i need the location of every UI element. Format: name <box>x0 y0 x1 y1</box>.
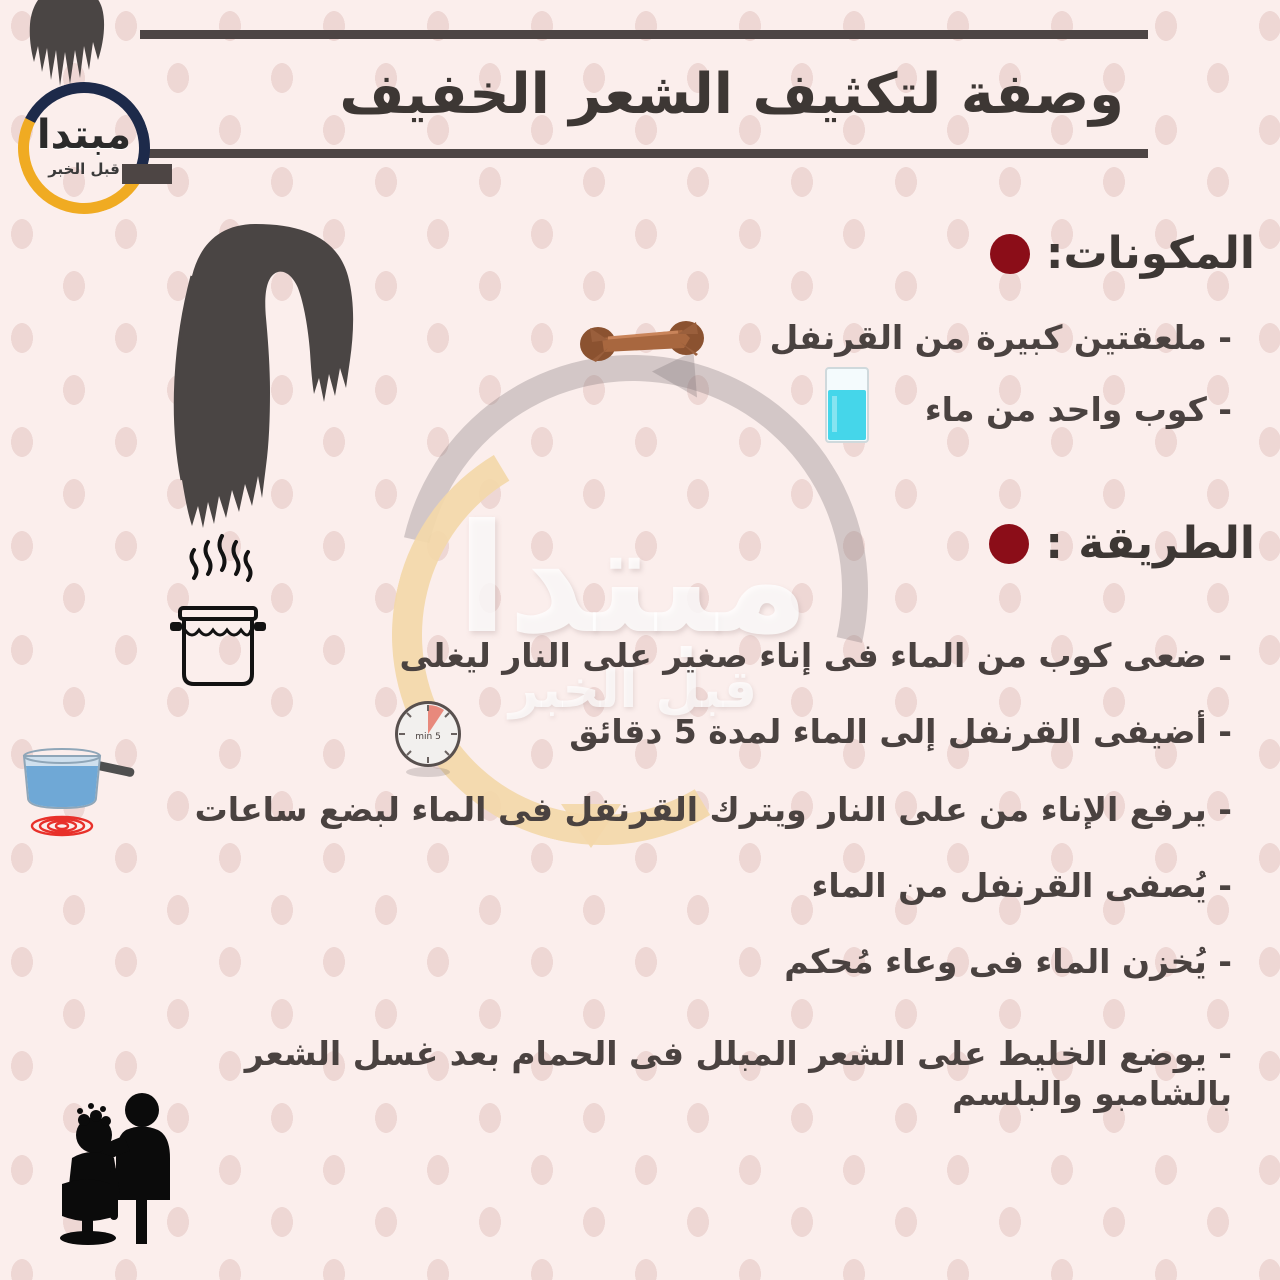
logo-wordmark: مبتدا <box>18 112 150 158</box>
long-hair-silhouette-icon <box>148 218 373 533</box>
method-step: - ضعى كوب من الماء فى إناء صغير على النا… <box>399 636 1232 676</box>
method-step: - أضيفى القرنفل إلى الماء لمدة 5 دقائق <box>569 712 1232 752</box>
method-step: - يرفع الإناء من على النار ويترك القرنفل… <box>195 790 1232 830</box>
infographic-page: وصفة لتكثيف الشعر الخفيف مبتدا قبل الخبر… <box>0 0 1280 1280</box>
ingredient-item: - كوب واحد من ماء <box>925 390 1232 430</box>
water-glass-icon <box>820 366 874 444</box>
ingredients-heading-label: المكونات: <box>1046 228 1255 279</box>
saucepan-on-burner-icon <box>6 742 136 842</box>
section-heading-method: الطريقة : <box>989 518 1255 569</box>
logo-tab-bar <box>122 164 172 184</box>
title-row: وصفة لتكثيف الشعر الخفيف <box>140 39 1148 149</box>
page-title: وصفة لتكثيف الشعر الخفيف <box>140 62 1132 127</box>
boiling-pot-icon <box>168 568 268 688</box>
hair-salon-washing-icon <box>58 1088 188 1248</box>
method-step: - يوضع الخليط على الشعر المبلل فى الحمام… <box>122 1034 1232 1115</box>
timer-label: 5 min <box>415 732 441 742</box>
clove-spice-icon <box>578 308 706 370</box>
header-top-rule <box>140 30 1148 39</box>
method-step: - يُخزن الماء فى وعاء مُحكم <box>784 942 1232 982</box>
bullet-dot-icon <box>989 524 1029 564</box>
ingredient-item: - ملعقتين كبيرة من القرنفل <box>770 318 1232 358</box>
brand-logo[interactable]: مبتدا قبل الخبر <box>18 82 150 214</box>
method-heading-label: الطريقة : <box>1045 518 1255 569</box>
header-bottom-rule <box>140 149 1148 158</box>
header-block: وصفة لتكثيف الشعر الخفيف <box>140 30 1148 158</box>
method-step: - يُصفى القرنفل من الماء <box>812 866 1233 906</box>
section-heading-ingredients: المكونات: <box>990 228 1255 279</box>
bullet-dot-icon <box>990 234 1030 274</box>
timer-5min-icon: 5 min <box>392 698 464 780</box>
